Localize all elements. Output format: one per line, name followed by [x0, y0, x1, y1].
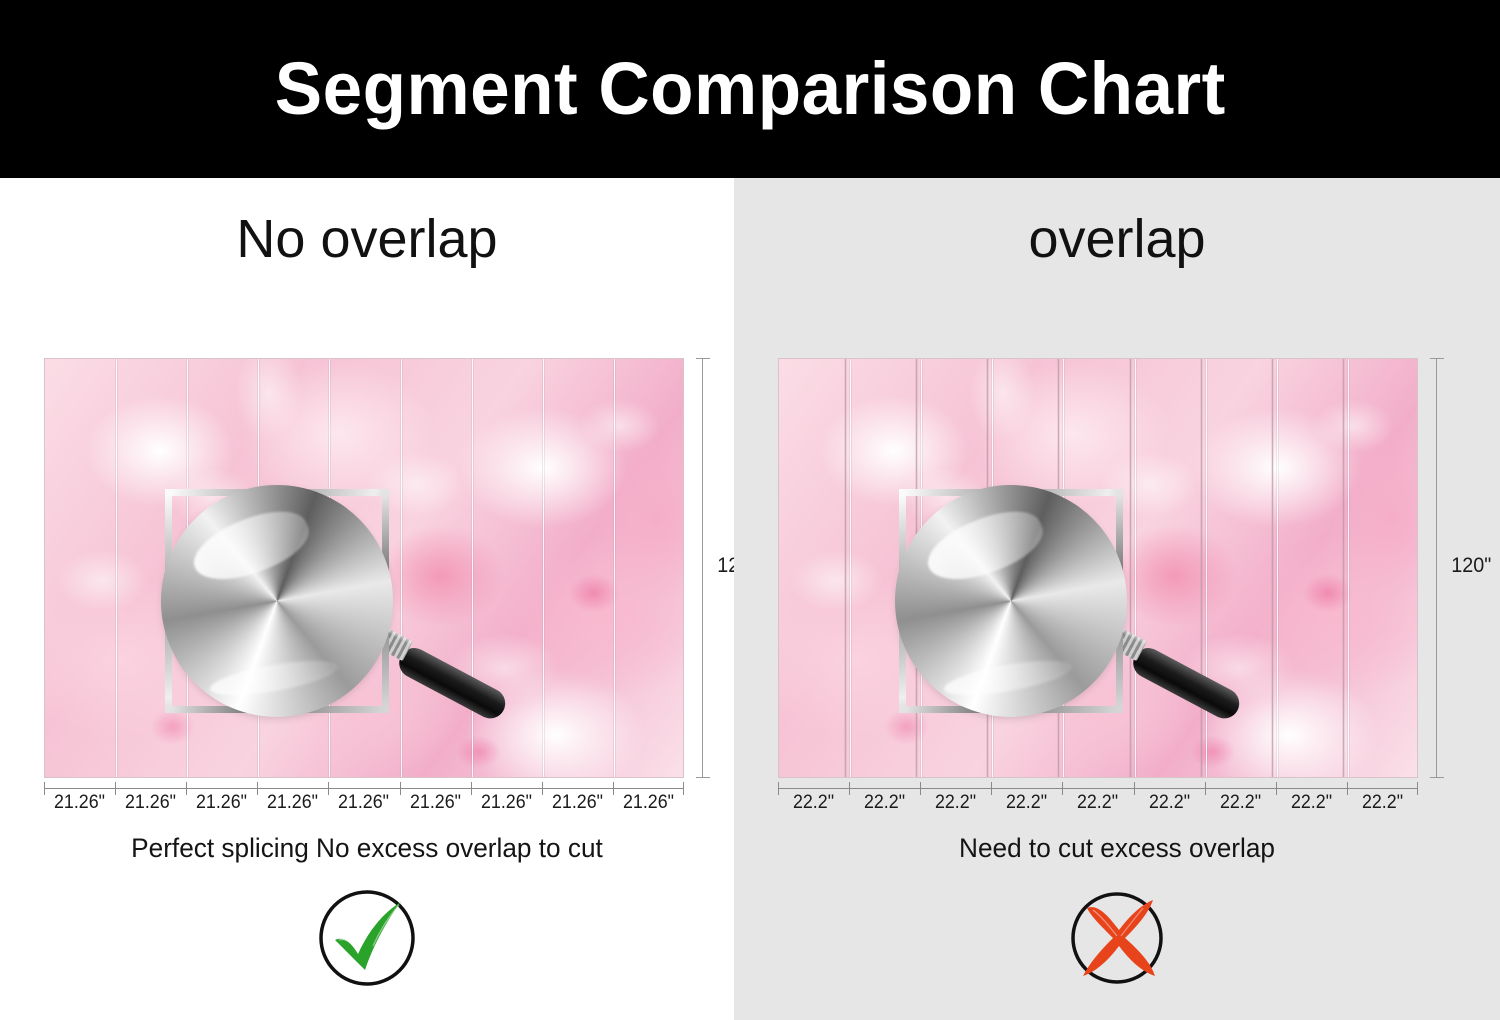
height-tick-bottom: [1430, 777, 1444, 778]
segment-width-label: 22.2": [1349, 792, 1416, 814]
segment-width-label: 21.26": [473, 792, 540, 814]
ruler-axis: [778, 788, 1418, 789]
segment-width-label: 21.26": [402, 792, 469, 814]
figure-no-overlap: 21.26"21.26"21.26"21.26"21.26"21.26"21.2…: [44, 358, 684, 778]
segment-width-label: 21.26": [46, 792, 113, 814]
panel-overlap: overlap 22.2"2: [734, 178, 1500, 1020]
ruler-tick: [115, 782, 116, 795]
height-label-overlap: 120": [1451, 554, 1491, 578]
caption-no-overlap: Perfect splicing No excess overlap to cu…: [11, 833, 723, 864]
ruler-tick: [44, 782, 45, 795]
ruler-tick: [186, 782, 187, 795]
peony-deep-tones: [45, 359, 683, 777]
panel-no-overlap: No overlap 21.26"21.26"21.26"21.26"2: [0, 178, 734, 1020]
verdict-overlap: [734, 884, 1500, 992]
ruler-tick: [257, 782, 258, 795]
ruler-tick: [1062, 782, 1063, 795]
segment-width-label: 21.26": [615, 792, 682, 814]
ruler-tick: [1276, 782, 1277, 795]
segment-width-label: 22.2": [1278, 792, 1345, 814]
ruler-tick: [1134, 782, 1135, 795]
page-title: Segment Comparison Chart: [275, 52, 1226, 126]
segment-width-label: 21.26": [117, 792, 184, 814]
width-ruler-no-overlap: 21.26"21.26"21.26"21.26"21.26"21.26"21.2…: [44, 778, 684, 824]
peony-deep-tones: [779, 359, 1417, 777]
ruler-tick: [471, 782, 472, 795]
segment-width-label: 22.2": [780, 792, 847, 814]
ruler-tick: [920, 782, 921, 795]
width-ruler-overlap: 22.2"22.2"22.2"22.2"22.2"22.2"22.2"22.2"…: [778, 778, 1418, 824]
segment-width-label: 21.26": [259, 792, 326, 814]
panel-heading-overlap: overlap: [734, 212, 1500, 266]
segment-width-label: 21.26": [544, 792, 611, 814]
ruler-tick: [683, 782, 684, 795]
mural-image-no-overlap: [44, 358, 684, 778]
ruler-tick: [991, 782, 992, 795]
height-tick-top: [696, 358, 710, 359]
height-tick-top: [1430, 358, 1444, 359]
segment-width-label: 22.2": [851, 792, 918, 814]
comparison-panels: No overlap 21.26"21.26"21.26"21.26"2: [0, 178, 1500, 1020]
ruler-tick: [400, 782, 401, 795]
height-ruler-overlap: 120": [1426, 358, 1486, 778]
segment-width-label: 21.26": [330, 792, 397, 814]
ruler-tick: [1347, 782, 1348, 795]
segment-width-label: 21.26": [188, 792, 255, 814]
segment-width-label: 22.2": [1136, 792, 1203, 814]
ruler-tick: [328, 782, 329, 795]
panel-heading-no-overlap: No overlap: [0, 212, 734, 266]
figure-overlap: 22.2"22.2"22.2"22.2"22.2"22.2"22.2"22.2"…: [778, 358, 1418, 778]
mural-image-overlap: [778, 358, 1418, 778]
ruler-tick: [542, 782, 543, 795]
ruler-tick: [778, 782, 779, 795]
check-icon: [313, 884, 421, 992]
height-tick-bottom: [696, 777, 710, 778]
caption-overlap: Need to cut excess overlap: [745, 833, 1488, 864]
title-banner: Segment Comparison Chart: [0, 0, 1500, 178]
ruler-tick: [1417, 782, 1418, 795]
segment-width-label: 22.2": [993, 792, 1060, 814]
segment-width-label: 22.2": [1207, 792, 1274, 814]
ruler-axis: [44, 788, 684, 789]
height-axis: [1436, 358, 1437, 778]
ruler-tick: [613, 782, 614, 795]
verdict-no-overlap: [0, 884, 734, 992]
ruler-tick: [1205, 782, 1206, 795]
segment-width-label: 22.2": [922, 792, 989, 814]
height-axis: [702, 358, 703, 778]
ruler-tick: [849, 782, 850, 795]
cross-icon: [1063, 884, 1171, 992]
segment-width-label: 22.2": [1064, 792, 1131, 814]
